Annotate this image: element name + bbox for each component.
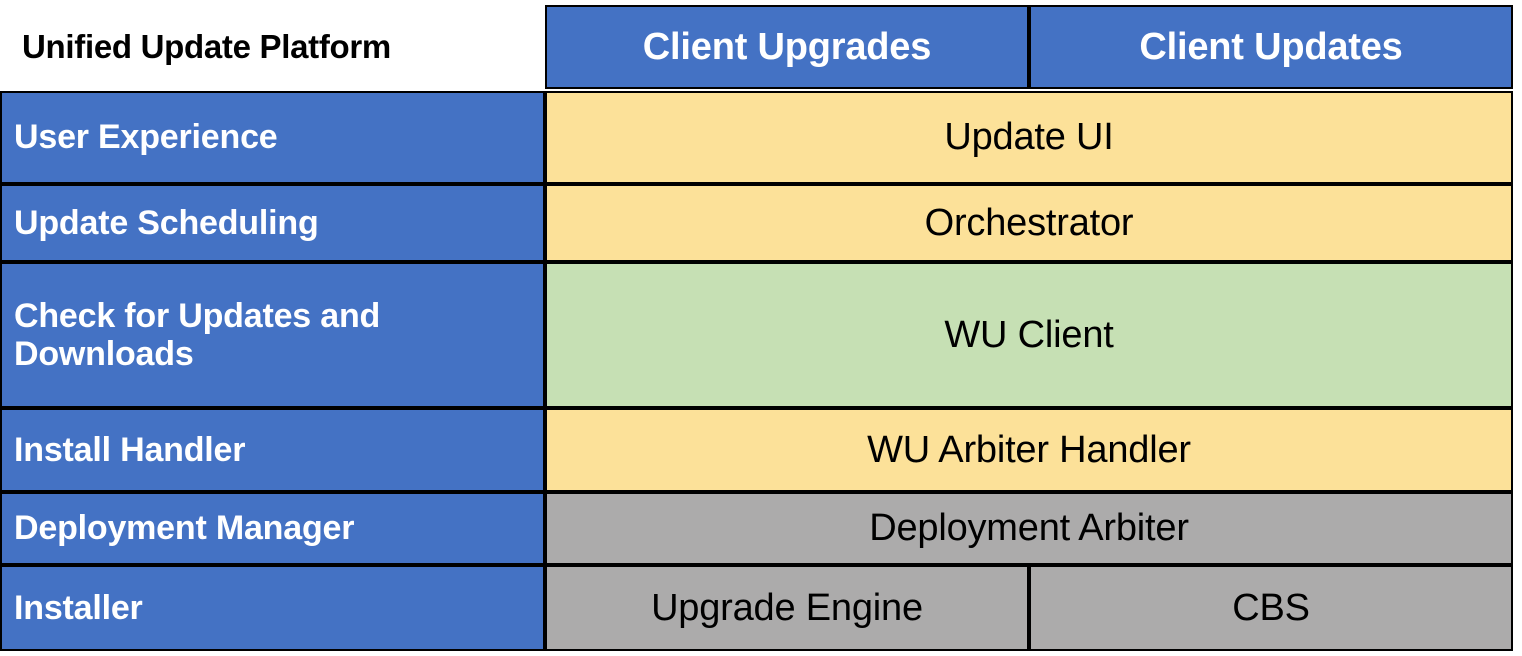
cell-wu-arbiter-handler: WU Arbiter Handler [545, 408, 1513, 492]
cell-deployment-arbiter: Deployment Arbiter [545, 492, 1513, 565]
table-corner-title: Unified Update Platform [0, 5, 545, 89]
row-label-user-experience: User Experience [0, 91, 545, 184]
column-header-client-upgrades: Client Upgrades [545, 5, 1029, 89]
cell-update-ui: Update UI [545, 91, 1513, 184]
cell-orchestrator: Orchestrator [545, 184, 1513, 262]
cell-cbs: CBS [1029, 565, 1513, 651]
row-label-check-for-updates-and-downloads: Check for Updates and Downloads [0, 262, 545, 408]
row-label-update-scheduling: Update Scheduling [0, 184, 545, 262]
row-label-installer: Installer [0, 565, 545, 651]
row-label-deployment-manager: Deployment Manager [0, 492, 545, 565]
row-label-install-handler: Install Handler [0, 408, 545, 492]
cell-upgrade-engine: Upgrade Engine [545, 565, 1029, 651]
cell-wu-client: WU Client [545, 262, 1513, 408]
unified-update-platform-table: Unified Update Platform Client Upgrades … [0, 0, 1522, 656]
column-header-client-updates: Client Updates [1029, 5, 1513, 89]
